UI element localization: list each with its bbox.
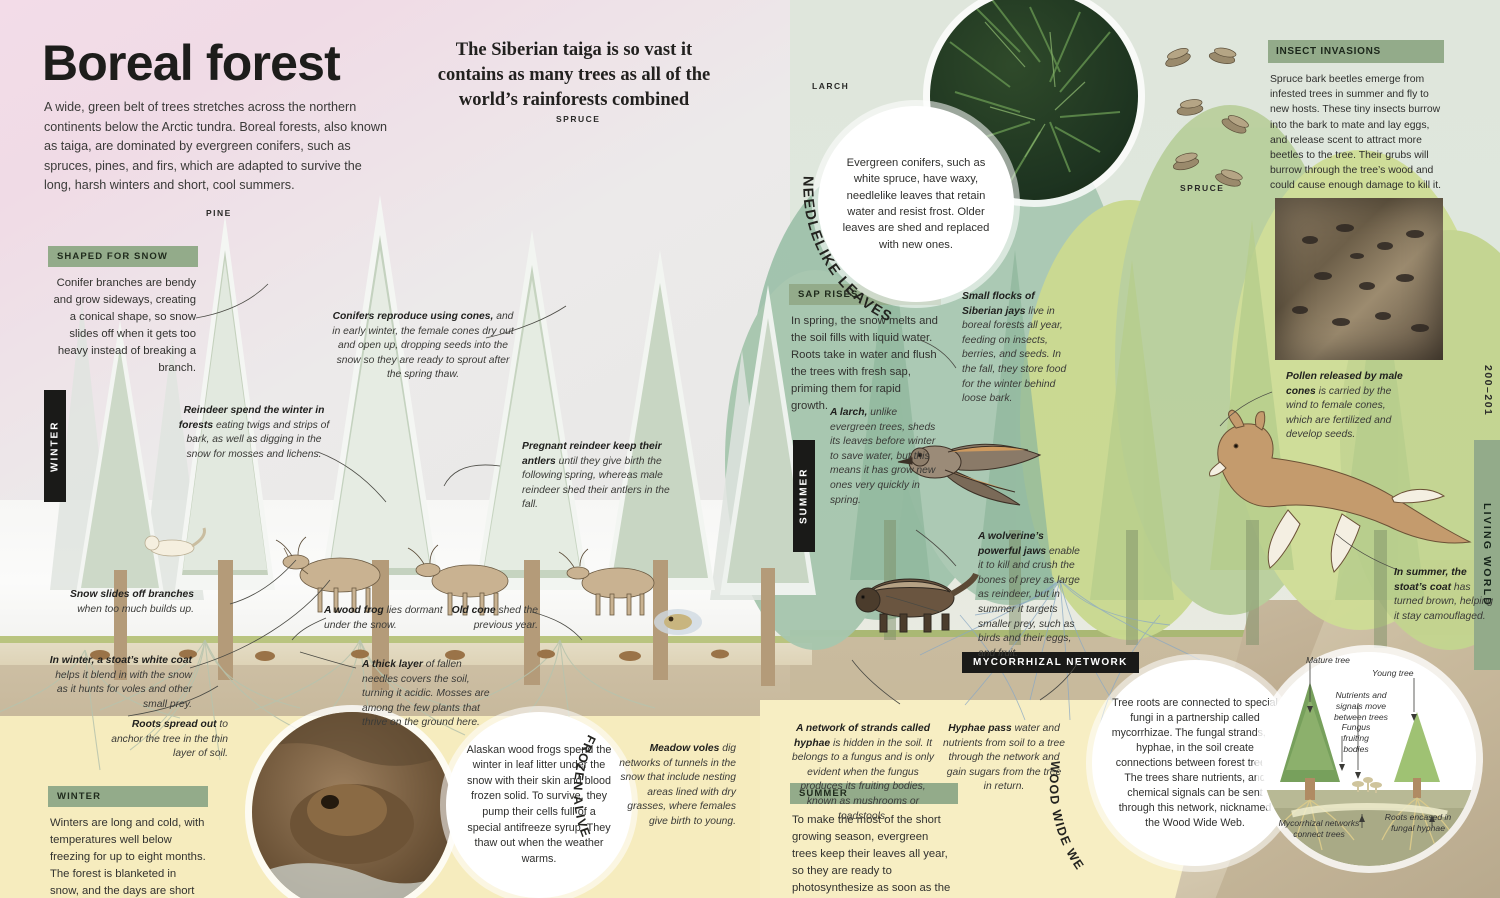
callout-meadow-voles-rest: dig networks of tunnels in the snow that… — [619, 743, 736, 827]
photo-bark-beetles — [1275, 198, 1443, 360]
diagram-label-roots: Roots encased in fungal hyphae — [1382, 812, 1454, 834]
callout-hyphae-pass: Hyphae pass water and nutrients from soi… — [942, 722, 1066, 795]
callout-meadow-voles-lead: Meadow voles — [650, 743, 720, 754]
label-spruce-right: SPRUCE — [1180, 183, 1224, 193]
callout-siberian-jays-rest: live in boreal forests all year, feeding… — [962, 306, 1066, 405]
arc-label-needlelike-leaves: NEEDLELIKE LEAVES — [796, 160, 916, 340]
callout-stoat-summer: In summer, the stoat’s coat has turned b… — [1394, 566, 1498, 624]
label-pine: PINE — [206, 208, 232, 218]
callout-wolverine-lead: A wolverine’s powerful jaws — [978, 531, 1046, 557]
callout-wolverine-rest: enable it to kill and crush the bones of… — [978, 546, 1080, 659]
callout-hyphae-pass-lead: Hyphae pass — [948, 723, 1012, 734]
callout-siberian-jays: Small flocks of Siberian jays live in bo… — [962, 290, 1070, 407]
callout-old-cone: Old cone shed the previous year. — [428, 604, 538, 633]
grass-line — [0, 636, 810, 643]
label-larch: LARCH — [812, 81, 849, 91]
diagram-label-nutrients: Nutrients and signals move between trees — [1322, 690, 1400, 723]
box-insect-invasions: INSECT INVASIONS Spruce bark beetles eme… — [1268, 40, 1444, 194]
callout-stoat-winter: In winter, a stoat’s white coat helps it… — [44, 654, 192, 712]
callout-stoat-winter-rest: helps it blend in with the snow as it hu… — [55, 670, 192, 710]
callout-snow-slides-off-rest: when too much builds up. — [77, 604, 194, 615]
callout-snow-slides-off-lead: Snow slides off branches — [70, 589, 194, 600]
callout-wood-frog-dormant: A wood frog lies dormant under the snow. — [324, 604, 444, 633]
callout-pregnant-reindeer: Pregnant reindeer keep their antlers unt… — [522, 440, 684, 513]
callout-siberian-jays-lead: Small flocks of Siberian jays — [962, 291, 1035, 317]
callout-thick-layer: A thick layer of fallen needles covers t… — [362, 658, 496, 731]
box-shaped-for-snow-body: Conifer branches are bendy and grow side… — [48, 267, 198, 377]
photo-wood-frog — [252, 712, 452, 898]
box-shaped-for-snow: SHAPED FOR SNOW Conifer branches are ben… — [48, 246, 198, 377]
callout-pollen: Pollen released by male cones is carried… — [1286, 370, 1414, 443]
svg-text:FROZEN ALIVE: FROZEN ALIVE — [571, 733, 599, 840]
callout-larch-lead: A larch, — [830, 407, 867, 418]
callout-thick-layer-lead: A thick layer — [362, 659, 423, 670]
page-number: 200–201 — [1482, 365, 1494, 416]
callout-roots-spread-lead: Roots spread out — [132, 719, 217, 730]
season-tab-summer: SUMMER — [793, 440, 815, 552]
diagram-label-young-tree: Young tree — [1372, 668, 1414, 679]
box-insect-invasions-body: Spruce bark beetles emerge from infested… — [1268, 63, 1444, 194]
box-winter-heading: WINTER — [48, 786, 208, 807]
callout-conifers-reproduce-lead: Conifers reproduce using cones, — [333, 311, 494, 322]
callout-reindeer-winter: Reindeer spend the winter in forests eat… — [176, 404, 332, 462]
callout-wood-frog-dormant-lead: A wood frog — [324, 605, 384, 616]
infographic-page: Boreal forest A wide, green belt of tree… — [0, 0, 1500, 898]
callout-snow-slides-off: Snow slides off branches when too much b… — [48, 588, 194, 617]
callout-roots-spread: Roots spread out to anchor the tree in t… — [108, 718, 228, 762]
section-tab-living-world: LIVING WORLD — [1474, 440, 1500, 670]
callout-wolverine: A wolverine’s powerful jaws enable it to… — [978, 530, 1084, 661]
box-shaped-for-snow-heading: SHAPED FOR SNOW — [48, 246, 198, 267]
page-intro: A wide, green belt of trees stretches ac… — [44, 98, 388, 196]
callout-meadow-voles: Meadow voles dig networks of tunnels in … — [608, 742, 736, 830]
box-insect-invasions-heading: INSECT INVASIONS — [1268, 40, 1444, 63]
callout-larch: A larch, unlike evergreen trees, sheds i… — [830, 406, 942, 508]
callout-larch-rest: unlike evergreen trees, sheds its leaves… — [830, 407, 935, 506]
callout-stoat-winter-lead: In winter, a stoat’s white coat — [50, 655, 192, 666]
callout-old-cone-lead: Old cone — [452, 605, 496, 616]
diagram-label-fungus-bodies: Fungus fruiting bodies — [1336, 722, 1376, 755]
arc-label-frozen-alive-text: FROZEN ALIVE — [571, 733, 599, 840]
diagram-label-mature-tree: Mature tree — [1306, 655, 1350, 666]
box-winter-body: Winters are long and cold, with temperat… — [48, 807, 208, 898]
callout-hyphae-network: A network of strands called hyphae is hi… — [790, 722, 936, 824]
svg-text:NEEDLELIKE LEAVES: NEEDLELIKE LEAVES — [799, 176, 895, 326]
diagram-label-networks: Mycorrhizal networks connect trees — [1278, 818, 1360, 840]
arc-label-needlelike-leaves-text: NEEDLELIKE LEAVES — [799, 176, 895, 326]
season-tab-winter: WINTER — [44, 390, 66, 502]
label-spruce-left: SPRUCE — [556, 114, 600, 124]
callout-conifers-reproduce: Conifers reproduce using cones, and in e… — [330, 310, 516, 383]
page-subtitle: The Siberian taiga is so vast it contain… — [424, 38, 724, 113]
page-title: Boreal forest — [42, 34, 340, 92]
callout-hyphae-network-rest: is hidden in the soil. It belongs to a f… — [792, 738, 934, 822]
box-winter: WINTER Winters are long and cold, with t… — [48, 786, 208, 898]
